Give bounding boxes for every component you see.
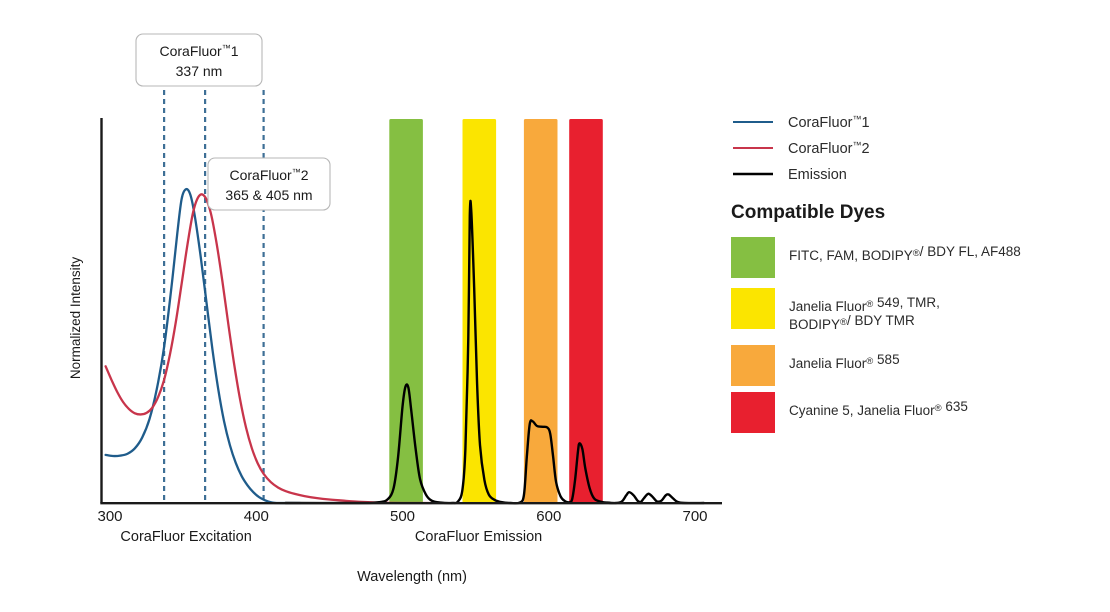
dye-swatch-4 [731, 392, 775, 433]
y-axis-title: Normalized Intensity [68, 257, 83, 380]
axis-region-label-1: CoraFluor Excitation [120, 529, 251, 545]
x-tick-label-600: 600 [536, 508, 561, 525]
x-axis-title: Wavelength (nm) [357, 569, 467, 585]
legend-label-3: Emission [788, 167, 847, 183]
dye-swatch-2 [731, 288, 775, 329]
fluorescence-spectra-figure: 300400500600700 CoraFluor ExcitationCora… [0, 0, 1110, 612]
x-tick-label-400: 400 [244, 508, 269, 525]
green-band [389, 119, 423, 503]
x-tick-label-300: 300 [97, 508, 122, 525]
axis-region-label-2: CoraFluor Emission [415, 529, 542, 545]
callout-line2: 365 & 405 nm [225, 187, 312, 203]
red-band [569, 119, 603, 503]
dye-swatch-1 [731, 237, 775, 278]
corafluor1-callout: CoraFluor™1337 nm [136, 34, 262, 86]
compatible-dyes-heading: Compatible Dyes [731, 202, 885, 223]
callout-line2: 337 nm [176, 63, 223, 79]
x-tick-label-700: 700 [682, 508, 707, 525]
x-tick-label-500: 500 [390, 508, 415, 525]
corafluor2-callout: CoraFluor™2365 & 405 nm [208, 158, 330, 210]
dye-swatch-3 [731, 345, 775, 386]
channel-bands-group [389, 119, 603, 503]
